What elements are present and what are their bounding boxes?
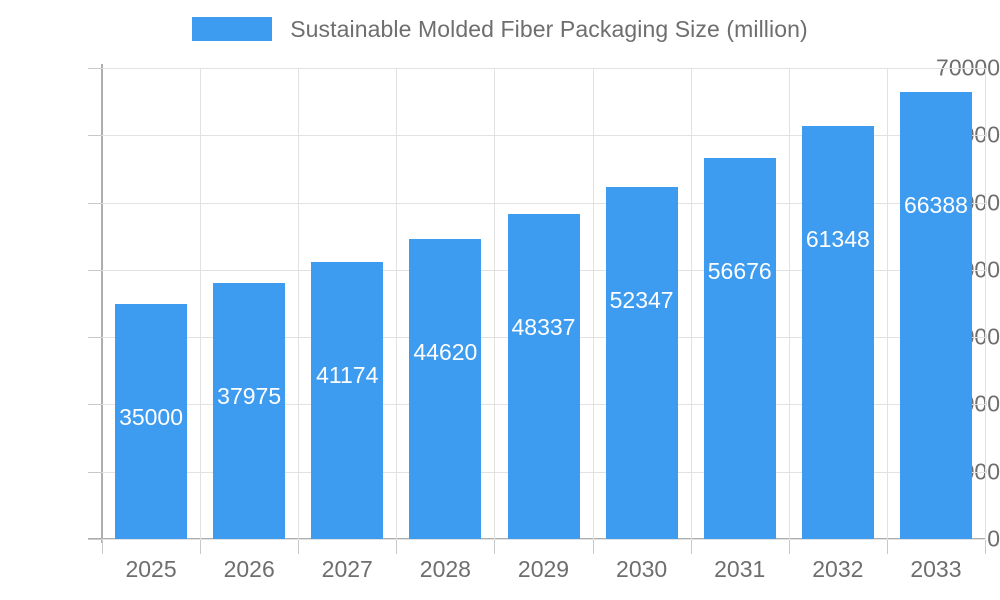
x-axis-tick-label: 2032 <box>812 556 863 583</box>
bar-value-label: 52347 <box>610 287 674 314</box>
plot-area: 3500037975411744462048337523475667661348… <box>102 68 985 539</box>
gridline-vertical <box>396 68 397 539</box>
chart-legend: Sustainable Molded Fiber Packaging Size … <box>0 10 1000 48</box>
x-axis-tick <box>789 540 790 554</box>
x-axis-tick <box>691 540 692 554</box>
y-axis-tick <box>88 539 102 540</box>
x-axis-tick <box>985 540 986 554</box>
x-axis-tick <box>396 540 397 554</box>
bar-value-label: 37975 <box>217 383 281 410</box>
y-axis-tick <box>88 270 102 271</box>
y-axis-tick <box>88 472 102 473</box>
x-axis-tick-label: 2031 <box>714 556 765 583</box>
y-axis-tick <box>88 337 102 338</box>
bar[interactable] <box>704 158 776 539</box>
bar-value-label: 48337 <box>512 314 576 341</box>
gridline-horizontal <box>102 68 985 69</box>
gridline-vertical <box>494 68 495 539</box>
x-axis-tick <box>593 540 594 554</box>
bar[interactable] <box>900 92 972 539</box>
gridline-vertical <box>200 68 201 539</box>
x-axis-tick-label: 2027 <box>322 556 373 583</box>
bar[interactable] <box>606 187 678 539</box>
bar-value-label: 61348 <box>806 226 870 253</box>
bar[interactable] <box>508 214 580 539</box>
legend-color-swatch <box>192 17 272 41</box>
gridline-horizontal <box>102 539 985 540</box>
x-axis-tick-label: 2028 <box>420 556 471 583</box>
y-axis-tick <box>88 68 102 69</box>
y-axis-tick <box>88 203 102 204</box>
legend-item[interactable]: Sustainable Molded Fiber Packaging Size … <box>192 16 808 43</box>
x-axis-tick-label: 2025 <box>125 556 176 583</box>
x-axis-tick <box>887 540 888 554</box>
bar-value-label: 56676 <box>708 258 772 285</box>
x-axis-tick-label: 2033 <box>910 556 961 583</box>
gridline-vertical <box>593 68 594 539</box>
y-axis-tick <box>88 135 102 136</box>
bar[interactable] <box>213 283 285 539</box>
gridline-vertical <box>789 68 790 539</box>
gridline-vertical <box>691 68 692 539</box>
x-axis-tick <box>298 540 299 554</box>
bar-value-label: 44620 <box>413 339 477 366</box>
gridline-vertical <box>985 68 986 539</box>
y-axis-tick <box>88 404 102 405</box>
x-axis-tick <box>102 540 103 554</box>
x-axis-tick <box>200 540 201 554</box>
gridline-vertical <box>887 68 888 539</box>
x-axis-tick-label: 2030 <box>616 556 667 583</box>
bar-value-label: 41174 <box>316 362 378 389</box>
bar[interactable] <box>409 239 481 539</box>
x-axis-tick-label: 2026 <box>224 556 275 583</box>
bar-chart: Sustainable Molded Fiber Packaging Size … <box>0 0 1000 600</box>
gridline-vertical <box>298 68 299 539</box>
legend-label: Sustainable Molded Fiber Packaging Size … <box>290 16 808 43</box>
bar-value-label: 66388 <box>904 192 968 219</box>
bar-value-label: 35000 <box>119 404 183 431</box>
bar[interactable] <box>802 126 874 539</box>
x-axis-tick <box>494 540 495 554</box>
bar[interactable] <box>311 262 383 539</box>
x-axis-tick-label: 2029 <box>518 556 569 583</box>
